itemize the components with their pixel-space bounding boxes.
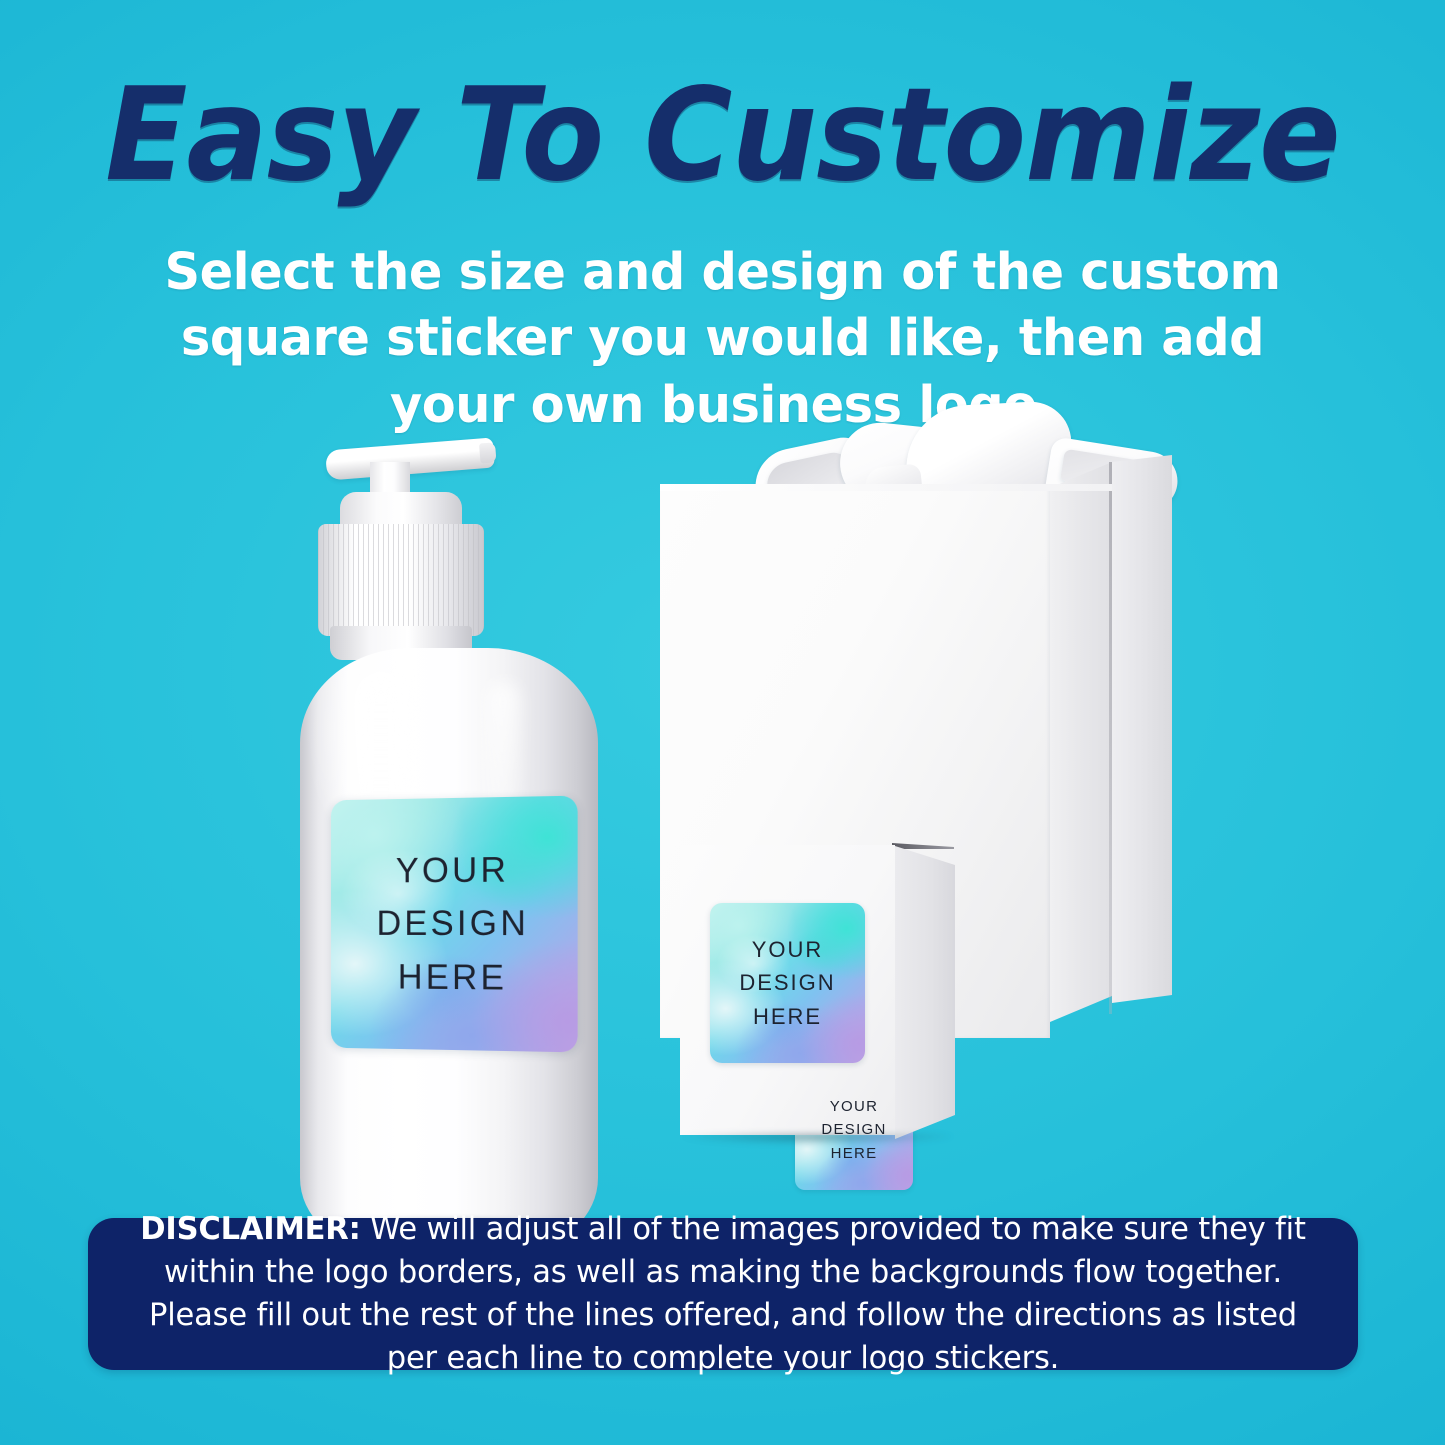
sticker-label-medium: YOUR DESIGN HERE — [710, 903, 865, 1063]
sticker-line-2: DESIGN — [739, 966, 835, 999]
sticker-line-1: YOUR — [752, 933, 824, 966]
page-title: Easy To Customize — [43, 72, 1401, 200]
gift-box-side-panel — [1050, 462, 1112, 1022]
gift-box-seam — [1109, 462, 1112, 1014]
product-mockup-scene: YOUR DESIGN HERE — [0, 380, 1445, 1200]
sticker-label-large: YOUR DESIGN HERE — [331, 796, 578, 1053]
sticker-line-3: HERE — [753, 1000, 822, 1033]
sticker-label-small: YOUR DESIGN HERE — [795, 1070, 913, 1190]
sticker-line-2: DESIGN — [821, 1118, 886, 1141]
sticker-line-3: HERE — [398, 950, 507, 1004]
promo-banner: Easy To Customize Select the size and de… — [0, 0, 1445, 1445]
sticker-text-small: YOUR DESIGN HERE — [795, 1070, 913, 1190]
pump-nozzle-icon — [325, 437, 495, 480]
sticker-text-large: YOUR DESIGN HERE — [331, 796, 578, 1053]
sticker-line-2: DESIGN — [377, 897, 530, 951]
pump-ribbed-collar — [318, 524, 484, 636]
disclaimer-label: DISCLAIMER: — [140, 1211, 360, 1247]
sticker-text-medium: YOUR DESIGN HERE — [710, 903, 865, 1063]
gift-box-back-panel — [1112, 455, 1172, 1021]
disclaimer-text: DISCLAIMER: We will adjust all of the im… — [98, 1208, 1349, 1379]
sticker-line-3: HERE — [831, 1142, 878, 1165]
sticker-line-1: YOUR — [830, 1095, 879, 1118]
gift-box-lid-edge — [660, 484, 1112, 491]
disclaimer-banner: DISCLAIMER: We will adjust all of the im… — [88, 1218, 1358, 1370]
sticker-line-1: YOUR — [396, 844, 509, 898]
